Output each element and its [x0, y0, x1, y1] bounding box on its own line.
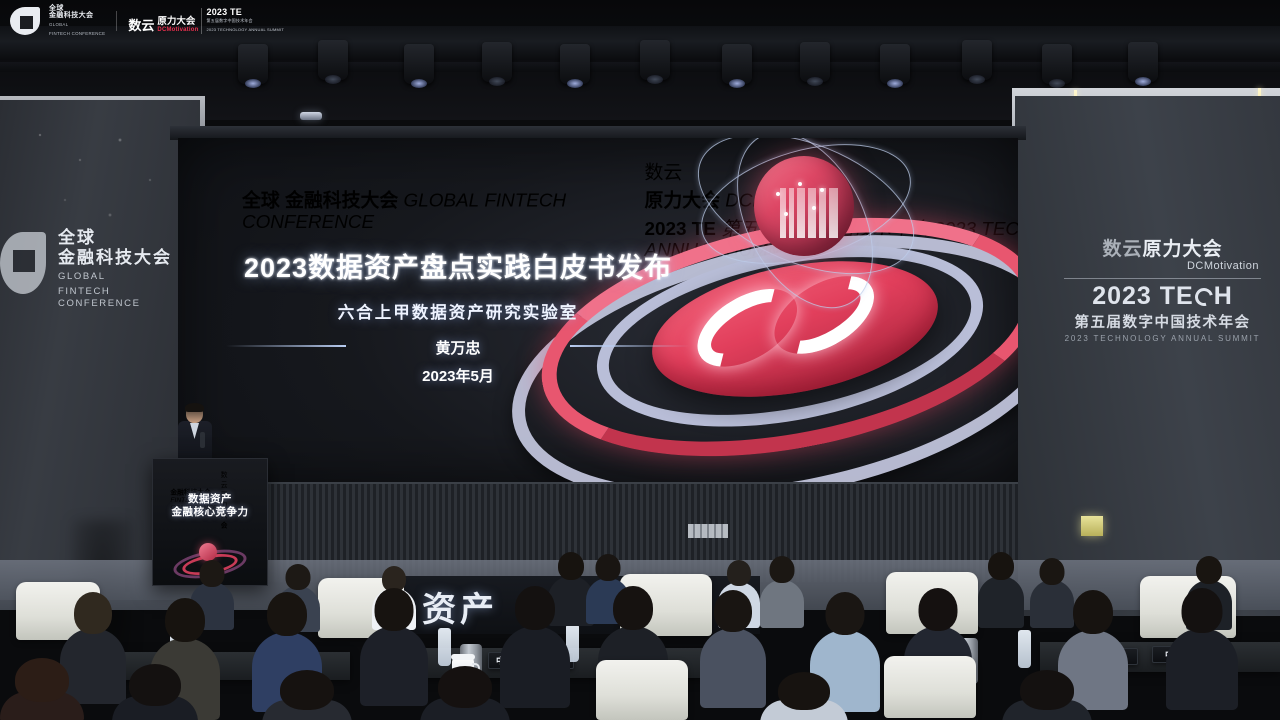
hanging-light: [300, 112, 322, 120]
water-bottle: [438, 628, 451, 666]
wall-right-brand-row: 数云原力大会: [1060, 234, 1265, 261]
fintech-conference-mark-icon: [0, 232, 46, 294]
wall-right-en-sub: 2023 TECHNOLOGY ANNUAL SUMMIT: [1060, 334, 1265, 343]
audience-member: [0, 658, 84, 720]
fintech-conference-logo-icon: [10, 7, 40, 35]
wall-right-cn-brand-tail: 原力大会: [1143, 239, 1223, 260]
wall-sign-left: 全球 金融科技大会 GLOBAL FINTECH CONFERENCE: [18, 228, 193, 310]
stage-spotlight: [1128, 42, 1158, 82]
dcmotivation-logo: 数云 原力大会 DCMotivation 2023 TE 第五届数字中国技术年会…: [128, 8, 284, 34]
main-led-screen: 全球 金融科技大会 GLOBAL FINTECH CONFERENCE 数云 原…: [178, 138, 1018, 482]
chair: [596, 660, 688, 720]
podium-dc-cn: 数云: [221, 469, 228, 489]
microphone-icon: [200, 432, 205, 448]
stage-spotlight: [800, 42, 830, 82]
bug-dc-sub-en: DCMotivation: [157, 26, 198, 34]
wall-left-en2: FINTECH CONFERENCE: [58, 286, 193, 310]
stage-spotlight: [238, 44, 268, 84]
audience-member: [978, 552, 1024, 626]
stage-spotlight: [482, 42, 512, 82]
bug-year-sub-en: 2023 TECHNOLOGY ANNUAL SUMMIT: [206, 26, 284, 34]
wall-texture: [20, 120, 180, 240]
swirl-c-icon: [1194, 287, 1214, 307]
presentation-subtitle: 六合上甲数据资产研究实验室: [178, 299, 738, 323]
audience-member: [760, 556, 804, 626]
conference-hall-scene: 全球 金融科技大会 GLOBAL FINTECH CONFERENCE 数云 原…: [0, 0, 1280, 720]
stage-spotlight: [880, 44, 910, 84]
wall-left-cn2: 金融科技大会: [58, 248, 193, 268]
presentation-title: 2023数据资产盘点实践白皮书发布: [178, 246, 738, 285]
wall-right-tech-prefix: 2023 TE: [1092, 282, 1194, 310]
stage-spotlight: [722, 44, 752, 84]
podium-line1: 数据资产: [153, 493, 267, 506]
stage-spotlight: [560, 44, 590, 84]
screen-logo-cn: 全球: [242, 191, 280, 211]
broadcast-logo-bug: 全球 金融科技大会 GLOBAL FINTECH CONFERENCE 数云 原…: [10, 5, 284, 37]
wall-right-tech-row: 2023 TEH: [1060, 283, 1265, 310]
wall-right-cn-sub: 第五届数字中国技术年会: [1060, 311, 1265, 332]
screen-logo-en: GLOBAL: [404, 191, 480, 211]
bug-dc-cn: 数云: [128, 15, 154, 34]
bug-logo-en2: FINTECH CONFERENCE: [49, 30, 105, 37]
podium-text-block: 数据资产 金融核心竞争力: [153, 493, 267, 519]
stage-spotlight: [1042, 44, 1072, 84]
audience-member: [262, 670, 352, 720]
wall-right-tech-suffix: H: [1214, 282, 1233, 310]
bug-logo-cn: 全球: [49, 5, 105, 12]
wall-left-en1: GLOBAL: [58, 271, 193, 283]
presentation-date: 2023年5月: [178, 365, 738, 386]
bug-logo-en: GLOBAL: [49, 21, 105, 28]
stage-spotlight: [318, 40, 348, 80]
stage-spotlight: [640, 40, 670, 80]
bug-logo-cn2: 金融科技大会: [49, 12, 105, 19]
speaker-person: [176, 404, 214, 466]
podium-line2: 金融核心竞争力: [153, 506, 267, 519]
stage-spotlight: [404, 44, 434, 84]
screen-logo-cn2: 金融科技大会: [285, 191, 398, 211]
wall-right-en-brand: DCMotivation: [1060, 260, 1265, 272]
audience-member: [760, 672, 848, 720]
audience-area: 中国进出口银行 中信银行 中信银行: [0, 530, 1280, 720]
city-sphere-icon: [754, 156, 854, 256]
bug-year-main: 2023 TE: [206, 8, 284, 16]
fintech-conference-logo-text: 全球 金融科技大会 GLOBAL FINTECH CONFERENCE: [49, 5, 105, 37]
bug-year-sub-cn: 第五届数字中国技术年会: [206, 17, 284, 25]
audience-member: [1166, 588, 1238, 708]
wall-right-cn-brand: 数云: [1102, 239, 1142, 260]
logo-divider: [116, 11, 117, 31]
water-bottle: [1018, 630, 1031, 668]
audience-member: [112, 664, 198, 720]
audience-member: [420, 666, 510, 720]
audience-member: [700, 590, 766, 706]
fintech-conference-logo-icon: [206, 195, 231, 223]
tech-year-logo: 2023 TE 第五届数字中国技术年会 2023 TECHNOLOGY ANNU…: [201, 8, 284, 34]
bug-dc-sub-cn: 原力大会: [157, 18, 198, 26]
audience-member: [500, 586, 570, 706]
presentation-title-block: 2023数据资产盘点实践白皮书发布 六合上甲数据资产研究实验室 黄万忠 2023…: [178, 246, 738, 386]
wall-sign-right: 数云原力大会 DCMotivation 2023 TEH 第五届数字中国技术年会…: [1060, 234, 1265, 343]
chair: [884, 656, 976, 718]
stage-spotlight: [962, 40, 992, 80]
presenter-row: 黄万忠: [178, 337, 738, 355]
presenter-name: 黄万忠: [178, 337, 738, 358]
divider: [1064, 278, 1261, 279]
audience-member: [1002, 670, 1092, 720]
wall-left-cn1: 全球: [58, 228, 193, 248]
audience-member: [360, 588, 428, 704]
dcmotivation-sub: 原力大会 DCMotivation: [157, 18, 198, 34]
